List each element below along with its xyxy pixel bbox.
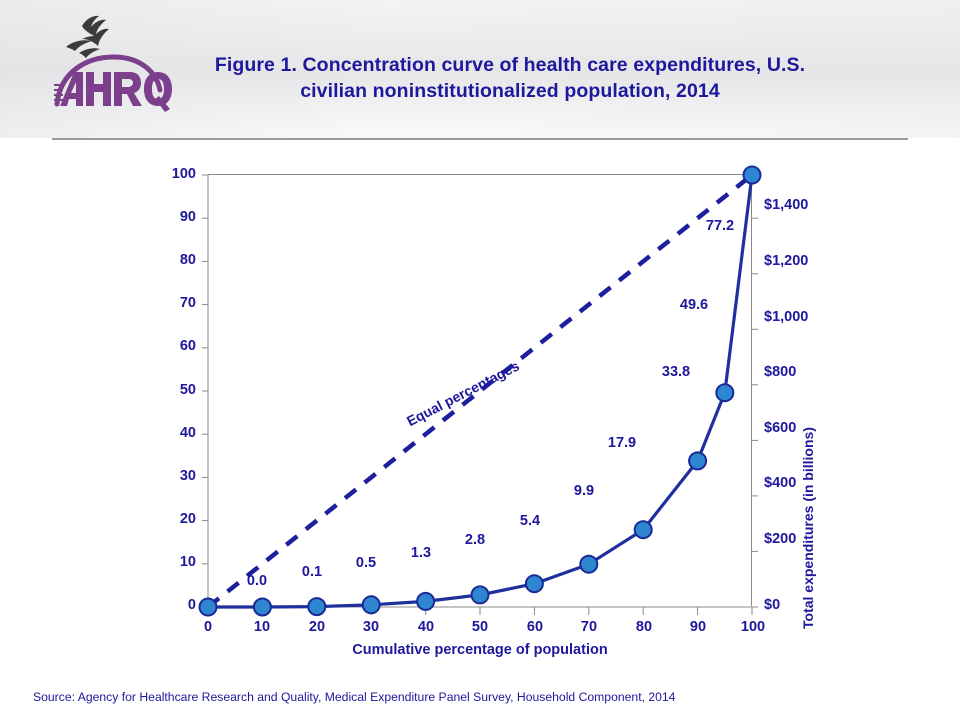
- x-tick-20: 20: [294, 619, 340, 635]
- x-tick-0: 0: [185, 619, 231, 635]
- data-point-0: [200, 599, 217, 616]
- data-point-70: [580, 556, 597, 573]
- page-title: Figure 1. Concentration curve of health …: [200, 52, 820, 104]
- y-tick-left-80: 80: [152, 252, 196, 268]
- y-tick-right-400: $400: [764, 475, 834, 491]
- y-tick-left-40: 40: [152, 425, 196, 441]
- data-point-90: [689, 452, 706, 469]
- x-tick-60: 60: [512, 619, 558, 635]
- data-point-80: [635, 521, 652, 538]
- x-tick-80: 80: [621, 619, 667, 635]
- y-tick-left-100: 100: [152, 166, 196, 182]
- data-label-70: 9.9: [560, 483, 608, 499]
- y-tick-left-20: 20: [152, 511, 196, 527]
- x-tick-100: 100: [730, 619, 776, 635]
- y-tick-right-1000: $1,000: [764, 309, 834, 325]
- page-title-line-2: civilian noninstitutionalized population…: [200, 78, 820, 104]
- y-axis-right-title: Total expenditures (in billions): [800, 368, 816, 688]
- y-tick-left-30: 30: [152, 468, 196, 484]
- data-label-972: 77.2: [696, 218, 744, 234]
- data-label-60: 5.4: [506, 513, 554, 529]
- x-axis-title: Cumulative percentage of population: [208, 642, 752, 658]
- data-label-90: 33.8: [652, 364, 700, 380]
- y-tick-left-0: 0: [152, 597, 196, 613]
- x-tick-40: 40: [403, 619, 449, 635]
- y-tick-left-10: 10: [152, 554, 196, 570]
- data-label-10: 0.0: [233, 573, 281, 589]
- data-label-80: 17.9: [598, 435, 646, 451]
- ahrq-logo: [52, 8, 172, 112]
- x-tick-30: 30: [348, 619, 394, 635]
- data-label-40: 1.3: [397, 545, 445, 561]
- data-label-95: 49.6: [670, 297, 718, 313]
- y-tick-right-800: $800: [764, 364, 834, 380]
- data-point-100: [744, 167, 761, 184]
- y-tick-left-70: 70: [152, 295, 196, 311]
- y-tick-right-1200: $1,200: [764, 253, 834, 269]
- y-tick-right-1400: $1,400: [764, 197, 834, 213]
- chart-container: Cumulative percentage of expenditures To…: [0, 138, 960, 676]
- x-tick-50: 50: [457, 619, 503, 635]
- y-tick-right-0: $0: [764, 597, 834, 613]
- data-point-95: [716, 384, 733, 401]
- y-axis-right-ticks: [752, 218, 758, 607]
- y-tick-left-50: 50: [152, 382, 196, 398]
- y-axis-left-ticks: [202, 175, 208, 607]
- y-tick-left-90: 90: [152, 209, 196, 225]
- data-label-50: 2.8: [451, 532, 499, 548]
- data-point-30: [363, 596, 380, 613]
- data-point-40: [417, 593, 434, 610]
- data-point-20: [308, 598, 325, 615]
- x-tick-10: 10: [239, 619, 285, 635]
- y-tick-right-600: $600: [764, 420, 834, 436]
- ahrq-wordmark: [54, 72, 172, 112]
- y-tick-left-60: 60: [152, 338, 196, 354]
- source-note: Source: Agency for Healthcare Research a…: [33, 690, 675, 704]
- hhs-eagle-icon: [66, 16, 109, 58]
- data-point-60: [526, 575, 543, 592]
- x-tick-70: 70: [566, 619, 612, 635]
- data-point-10: [254, 599, 271, 616]
- y-tick-right-200: $200: [764, 531, 834, 547]
- x-tick-90: 90: [675, 619, 721, 635]
- data-label-30: 0.5: [342, 555, 390, 571]
- data-point-50: [472, 586, 489, 603]
- page-title-line-1: Figure 1. Concentration curve of health …: [200, 52, 820, 78]
- data-label-20: 0.1: [288, 564, 336, 580]
- page-header: Figure 1. Concentration curve of health …: [0, 0, 960, 138]
